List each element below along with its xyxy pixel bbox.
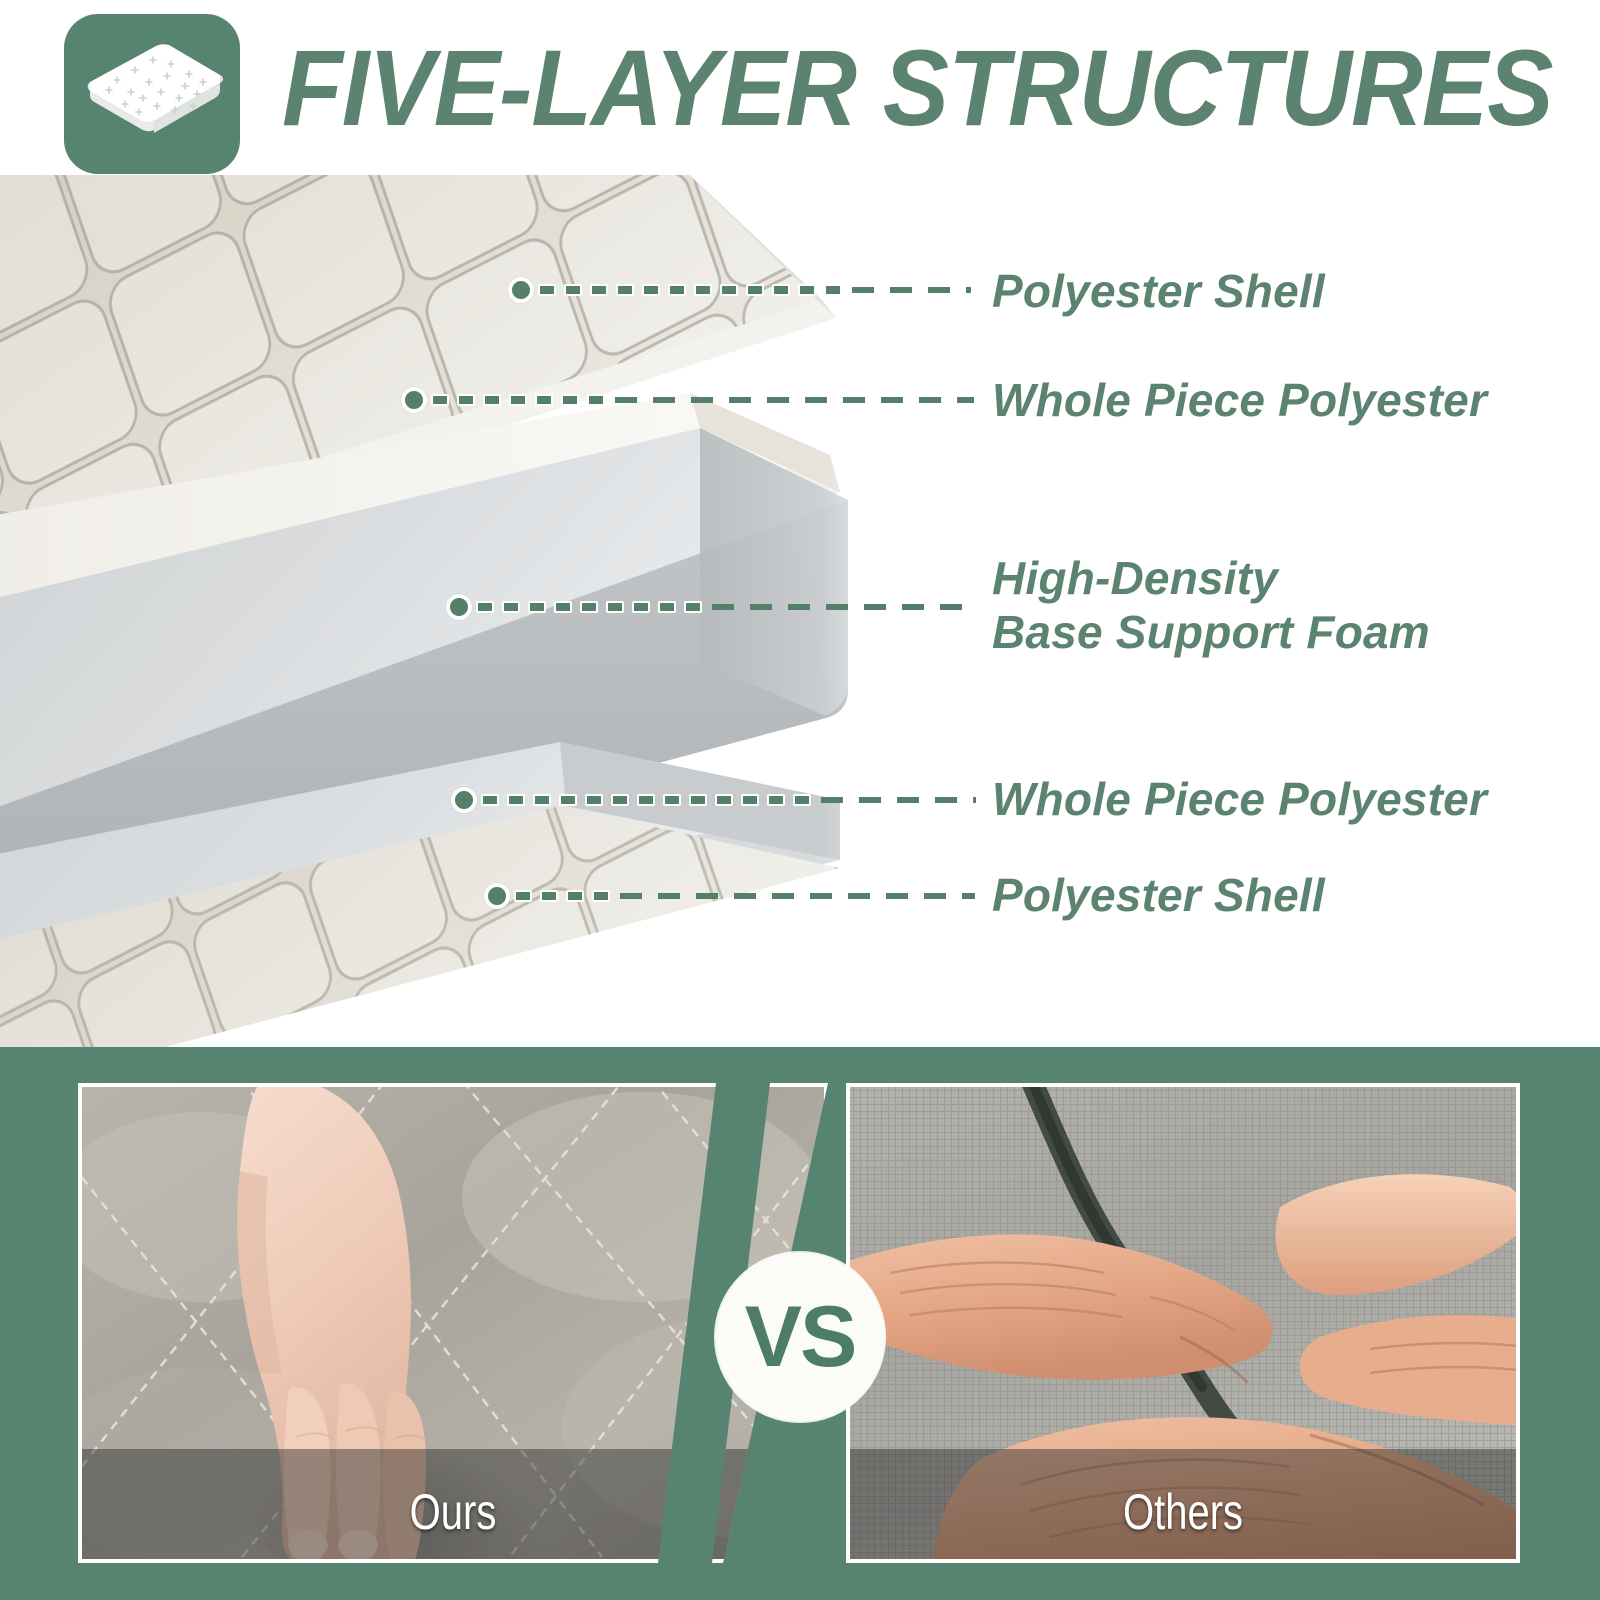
leader-line-layer-5: [497, 890, 975, 902]
five-layer-diagram: FIVE-LAYER STRUCTURES: [0, 0, 1600, 1047]
layer-label-3-line2: Base Support Foam: [992, 605, 1430, 659]
leader-line-layer-2: [414, 394, 974, 406]
layer-label-3-line1: High-Density: [992, 551, 1430, 605]
photo-others: Others: [846, 1083, 1520, 1563]
layer-label-1: Polyester Shell: [992, 264, 1325, 318]
leader-line-layer-4: [464, 794, 976, 806]
leader-dashes: [472, 597, 974, 617]
header: FIVE-LAYER STRUCTURES: [0, 0, 1600, 175]
layer-label-4: Whole Piece Polyester: [992, 772, 1487, 826]
caption-others: Others: [917, 1483, 1450, 1541]
leader-line-layer-3: [459, 601, 974, 613]
layer-label-5: Polyester Shell: [992, 868, 1325, 922]
caption-ours: Ours: [156, 1483, 750, 1541]
leader-dashes: [534, 280, 971, 300]
layer-label-3: High-Density Base Support Foam: [992, 551, 1430, 659]
page-title: FIVE-LAYER STRUCTURES: [282, 28, 1478, 148]
leader-line-layer-1: [521, 284, 971, 296]
leader-dot: [484, 883, 510, 909]
infographic-root: FIVE-LAYER STRUCTURES: [0, 0, 1600, 1600]
mattress-icon: [64, 14, 240, 174]
photo-ours: Ours: [78, 1083, 828, 1563]
leader-dashes: [477, 790, 976, 810]
leader-dot: [446, 594, 472, 620]
leader-dot: [451, 787, 477, 813]
vs-label: VS: [745, 1294, 856, 1380]
vs-badge: VS: [716, 1253, 884, 1421]
leader-dot: [401, 387, 427, 413]
leader-dashes: [427, 390, 974, 410]
layer-label-2: Whole Piece Polyester: [992, 373, 1487, 427]
leader-dot: [508, 277, 534, 303]
leader-dashes: [510, 886, 975, 906]
